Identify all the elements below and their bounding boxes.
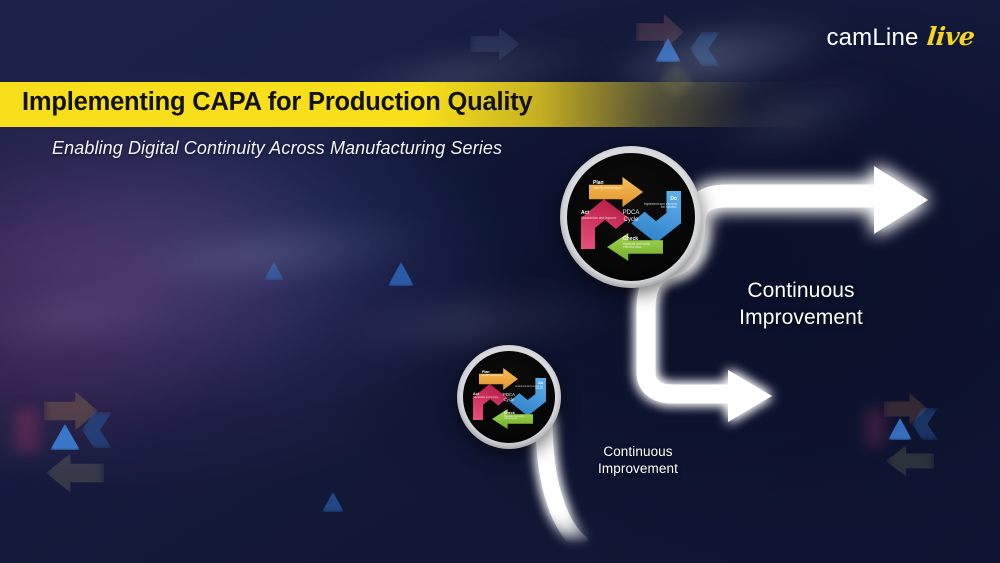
pdca-label-do: Do Implement and execute the solution [639, 197, 677, 210]
pdca-diagram-small[interactable]: Plan Identify and analyze Do Implement a… [457, 345, 561, 449]
ci-primary-line1: Continuous [747, 279, 854, 302]
pdca-label-plan: Plan Identify and analyze [593, 181, 633, 190]
pdca-label-act: Act Standardize and improve [581, 211, 619, 220]
pdca-label-check: Check Measure and verify effectiveness [504, 412, 534, 421]
pdca-diagram-large[interactable]: Plan Identify and analyze Do Implement a… [560, 146, 702, 288]
flow-arrow-upper [663, 166, 928, 262]
pdca-label-plan: Plan Identify and analyze [482, 371, 512, 377]
ci-secondary-line2: Improvement [598, 461, 678, 476]
pdca-label-check: Check Measure and verify effectiveness [623, 237, 663, 250]
continuous-improvement-label-secondary: Continuous Improvement [578, 443, 698, 478]
ci-secondary-line1: Continuous [603, 444, 672, 459]
pdca-center-label: PDCA Cycle [503, 392, 515, 402]
presentation-slide: Implementing CAPA for Production Quality… [0, 0, 1000, 563]
pdca-center-line2: Cycle [504, 397, 515, 402]
continuous-improvement-label-primary: Continuous Improvement [713, 278, 889, 332]
pdca-label-act: Act Standardize and improve [473, 393, 501, 399]
pdca-center-line1: PDCA [623, 210, 640, 216]
ci-primary-line2: Improvement [739, 306, 863, 329]
pdca-center-label: PDCA Cycle [623, 210, 640, 224]
flow-arrow-tail [544, 420, 580, 543]
pdca-label-do: Do Implement and execute the solution [515, 382, 543, 391]
pdca-center-line2: Cycle [623, 217, 638, 223]
